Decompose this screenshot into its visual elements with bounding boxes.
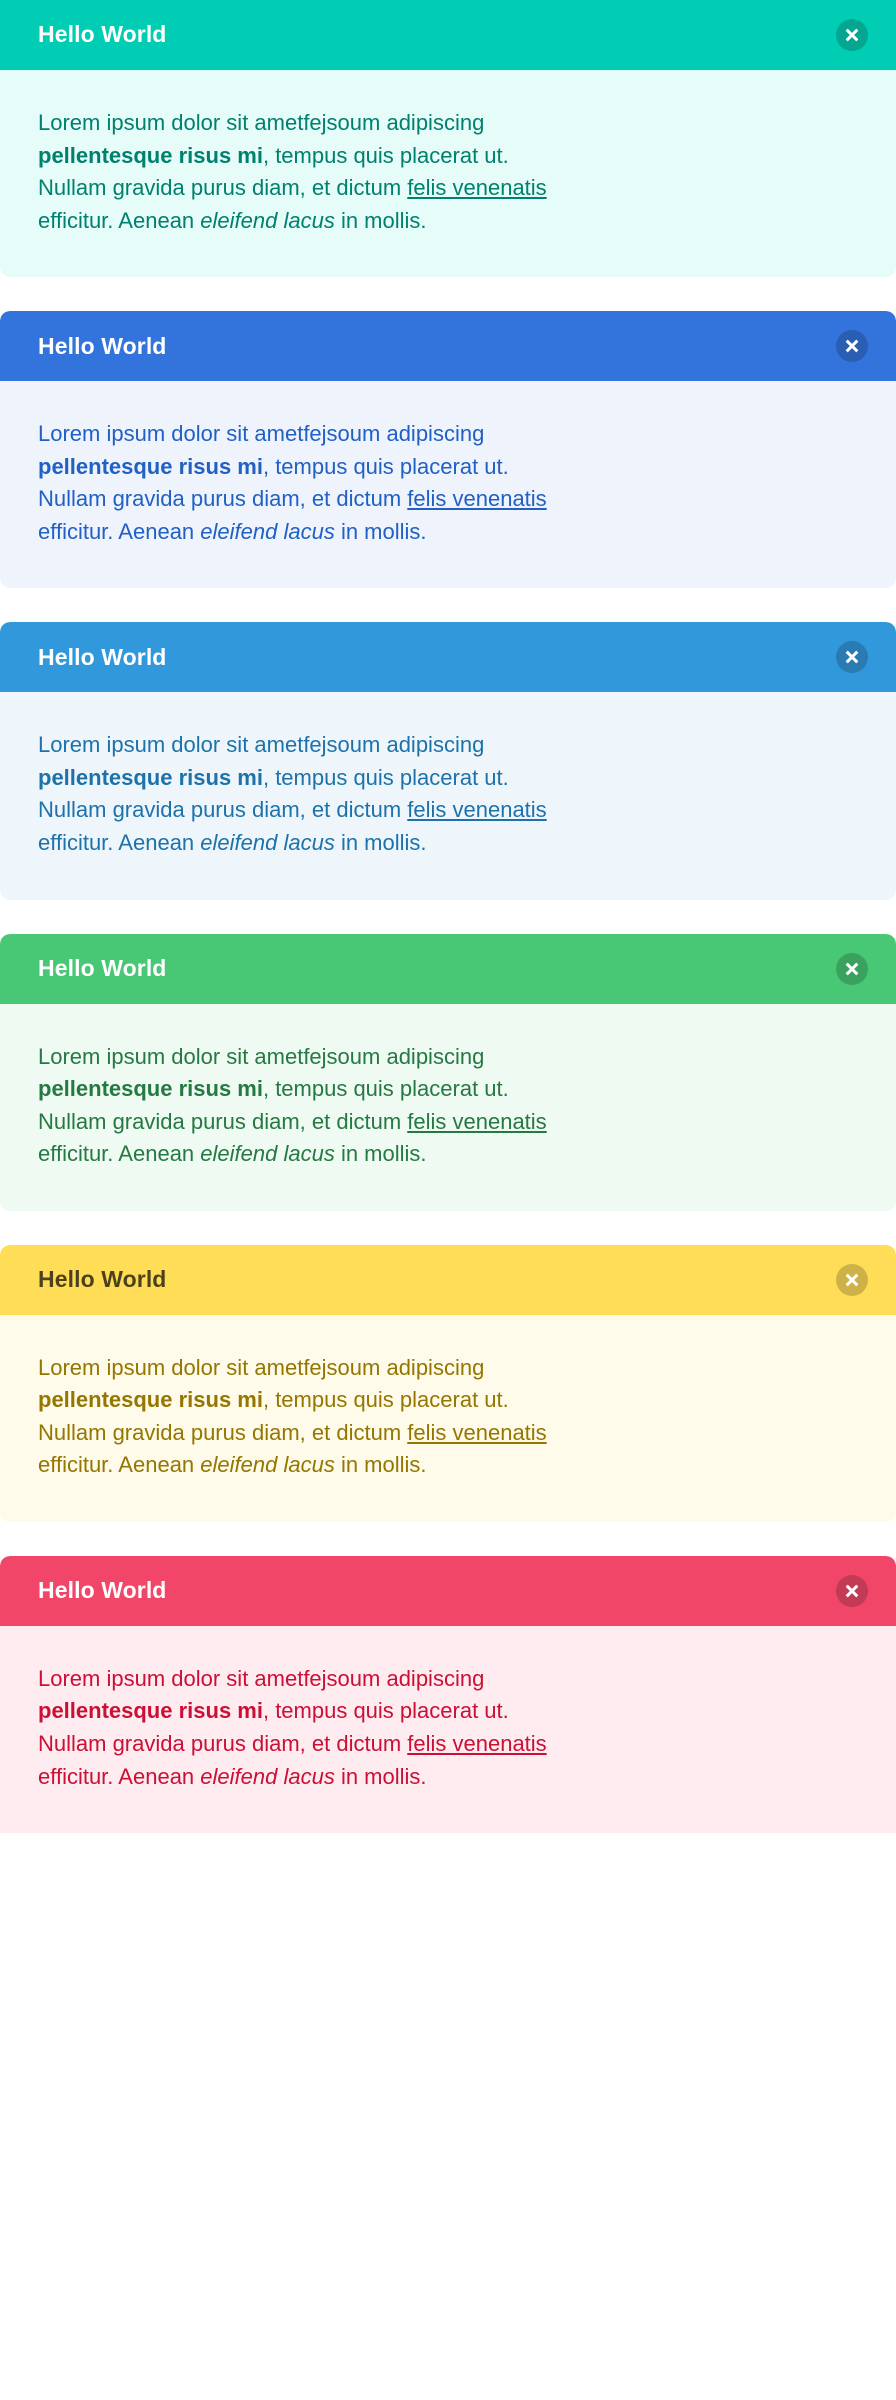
message-card-paragraph: Lorem ipsum dolor sit ametfejsoum adipis… (38, 418, 578, 548)
message-card-header: Hello World (0, 0, 896, 70)
body-lead-text: Lorem ipsum dolor sit ametfejsoum adipis… (38, 1666, 484, 1691)
body-after-link-text: efficitur. Aenean (38, 519, 200, 544)
body-bold-text: pellentesque risus mi (38, 454, 263, 479)
body-italic-text: eleifend lacus (200, 1452, 335, 1477)
message-card-body: Lorem ipsum dolor sit ametfejsoum adipis… (0, 70, 896, 277)
body-italic-text: eleifend lacus (200, 208, 335, 233)
body-tail-text: in mollis. (335, 1452, 427, 1477)
message-card-danger: Hello World Lorem ipsum dolor sit ametfe… (0, 1556, 896, 1833)
message-card-title: Hello World (38, 645, 166, 670)
body-lead-text: Lorem ipsum dolor sit ametfejsoum adipis… (38, 1355, 484, 1380)
message-card-info: Hello World Lorem ipsum dolor sit ametfe… (0, 622, 896, 899)
body-italic-text: eleifend lacus (200, 1764, 335, 1789)
felis-venenatis-link[interactable]: felis venenatis (407, 1109, 546, 1134)
body-after-link-text: efficitur. Aenean (38, 830, 200, 855)
message-card-body: Lorem ipsum dolor sit ametfejsoum adipis… (0, 1315, 896, 1522)
body-tail-text: in mollis. (335, 208, 427, 233)
message-card-link: Hello World Lorem ipsum dolor sit ametfe… (0, 311, 896, 588)
body-lead-text: Lorem ipsum dolor sit ametfejsoum adipis… (38, 110, 484, 135)
message-card-title: Hello World (38, 334, 166, 359)
body-italic-text: eleifend lacus (200, 830, 335, 855)
body-bold-text: pellentesque risus mi (38, 1387, 263, 1412)
close-icon[interactable] (836, 1575, 868, 1607)
body-bold-text: pellentesque risus mi (38, 1698, 263, 1723)
message-card-warning: Hello World Lorem ipsum dolor sit ametfe… (0, 1245, 896, 1522)
message-card-title: Hello World (38, 1267, 166, 1292)
message-card-paragraph: Lorem ipsum dolor sit ametfejsoum adipis… (38, 107, 578, 237)
body-tail-text: in mollis. (335, 1764, 427, 1789)
body-after-link-text: efficitur. Aenean (38, 1764, 200, 1789)
message-card-body: Lorem ipsum dolor sit ametfejsoum adipis… (0, 692, 896, 899)
body-after-link-text: efficitur. Aenean (38, 1141, 200, 1166)
body-after-link-text: efficitur. Aenean (38, 208, 200, 233)
body-bold-text: pellentesque risus mi (38, 1076, 263, 1101)
felis-venenatis-link[interactable]: felis venenatis (407, 797, 546, 822)
message-card-body: Lorem ipsum dolor sit ametfejsoum adipis… (0, 1004, 896, 1211)
message-card-title: Hello World (38, 956, 166, 981)
body-after-link-text: efficitur. Aenean (38, 1452, 200, 1477)
message-card-body: Lorem ipsum dolor sit ametfejsoum adipis… (0, 381, 896, 588)
close-icon[interactable] (836, 19, 868, 51)
close-icon[interactable] (836, 330, 868, 362)
message-card-paragraph: Lorem ipsum dolor sit ametfejsoum adipis… (38, 1352, 578, 1482)
message-card-header: Hello World (0, 934, 896, 1004)
message-card-header: Hello World (0, 1556, 896, 1626)
message-card-success: Hello World Lorem ipsum dolor sit ametfe… (0, 934, 896, 1211)
close-icon[interactable] (836, 953, 868, 985)
body-bold-text: pellentesque risus mi (38, 765, 263, 790)
felis-venenatis-link[interactable]: felis venenatis (407, 1420, 546, 1445)
message-card-title: Hello World (38, 22, 166, 47)
body-tail-text: in mollis. (335, 1141, 427, 1166)
body-tail-text: in mollis. (335, 830, 427, 855)
body-bold-text: pellentesque risus mi (38, 143, 263, 168)
felis-venenatis-link[interactable]: felis venenatis (407, 175, 546, 200)
message-card-body: Lorem ipsum dolor sit ametfejsoum adipis… (0, 1626, 896, 1833)
message-card-header: Hello World (0, 311, 896, 381)
message-card-paragraph: Lorem ipsum dolor sit ametfejsoum adipis… (38, 729, 578, 859)
message-card-primary: Hello World Lorem ipsum dolor sit ametfe… (0, 0, 896, 277)
felis-venenatis-link[interactable]: felis venenatis (407, 1731, 546, 1756)
message-card-header: Hello World (0, 1245, 896, 1315)
close-icon[interactable] (836, 1264, 868, 1296)
message-card-paragraph: Lorem ipsum dolor sit ametfejsoum adipis… (38, 1041, 578, 1171)
body-italic-text: eleifend lacus (200, 519, 335, 544)
message-card-title: Hello World (38, 1578, 166, 1603)
close-icon[interactable] (836, 641, 868, 673)
message-card-list: Hello World Lorem ipsum dolor sit ametfe… (0, 0, 896, 1833)
body-italic-text: eleifend lacus (200, 1141, 335, 1166)
body-lead-text: Lorem ipsum dolor sit ametfejsoum adipis… (38, 1044, 484, 1069)
felis-venenatis-link[interactable]: felis venenatis (407, 486, 546, 511)
body-tail-text: in mollis. (335, 519, 427, 544)
message-card-header: Hello World (0, 622, 896, 692)
body-lead-text: Lorem ipsum dolor sit ametfejsoum adipis… (38, 732, 484, 757)
body-lead-text: Lorem ipsum dolor sit ametfejsoum adipis… (38, 421, 484, 446)
message-card-paragraph: Lorem ipsum dolor sit ametfejsoum adipis… (38, 1663, 578, 1793)
